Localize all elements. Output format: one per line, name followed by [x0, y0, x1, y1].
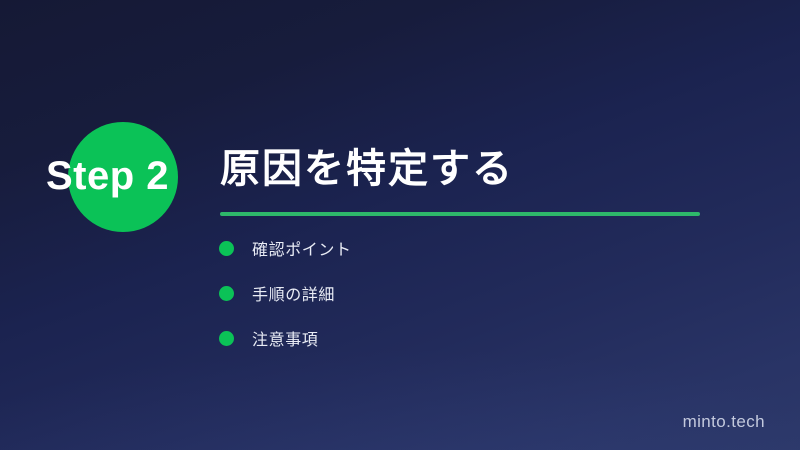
step-badge-label: Step 2 [46, 152, 246, 200]
title-divider [220, 212, 700, 216]
slide-canvas: Step 2 原因を特定する 確認ポイント 手順の詳細 注意事項 minto.t… [0, 0, 800, 450]
bullet-item-label: 手順の詳細 [252, 281, 335, 305]
bullet-item-label: 確認ポイント [252, 236, 352, 260]
footer-branding: minto.tech [683, 412, 765, 432]
bullet-item-label: 注意事項 [252, 326, 318, 350]
list-item: 注意事項 [219, 330, 352, 346]
bullet-list: 確認ポイント 手順の詳細 注意事項 [219, 240, 352, 346]
list-item: 手順の詳細 [219, 285, 352, 301]
slide-title: 原因を特定する [220, 146, 514, 192]
list-item: 確認ポイント [219, 240, 352, 256]
bullet-dot-icon [219, 331, 234, 346]
bullet-dot-icon [219, 286, 234, 301]
bullet-dot-icon [219, 241, 234, 256]
